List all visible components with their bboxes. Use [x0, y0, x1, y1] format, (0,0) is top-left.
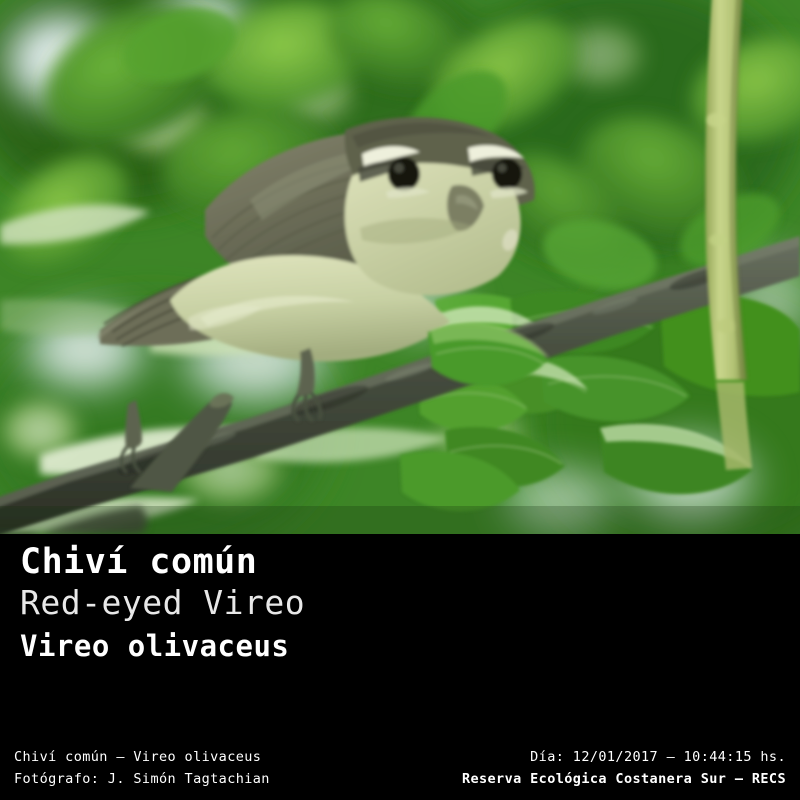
english-name: Red-eyed Vireo — [20, 583, 780, 623]
footer-photographer-line: Fotógrafo: J. Simón Tagtachian — [14, 768, 270, 790]
species-title-block: Chiví común Red-eyed Vireo Vireo olivace… — [20, 542, 780, 666]
scientific-name: Vireo olivaceus — [20, 626, 780, 666]
footer-species-line: Chiví común – Vireo olivaceus — [14, 746, 270, 768]
footer-location-line: Reserva Ecológica Costanera Sur – RECS — [462, 768, 786, 790]
footer-datetime-line: Día: 12/01/2017 – 10:44:15 hs. — [462, 746, 786, 768]
caption-panel: Chiví común Red-eyed Vireo Vireo olivace… — [0, 534, 800, 800]
bird-left-eye — [388, 157, 420, 191]
footer-right-column: Día: 12/01/2017 – 10:44:15 hs. Reserva E… — [462, 746, 786, 790]
footer-left-column: Chiví común – Vireo olivaceus Fotógrafo:… — [14, 746, 270, 790]
bird-right-eye — [492, 158, 522, 190]
bird-photograph — [0, 0, 800, 534]
photo-canvas — [0, 0, 800, 534]
common-name: Chiví común — [20, 542, 780, 583]
photo-credit-footer: Chiví común – Vireo olivaceus Fotógrafo:… — [0, 746, 800, 800]
photo-caption-card: Chiví común Red-eyed Vireo Vireo olivace… — [0, 0, 800, 800]
